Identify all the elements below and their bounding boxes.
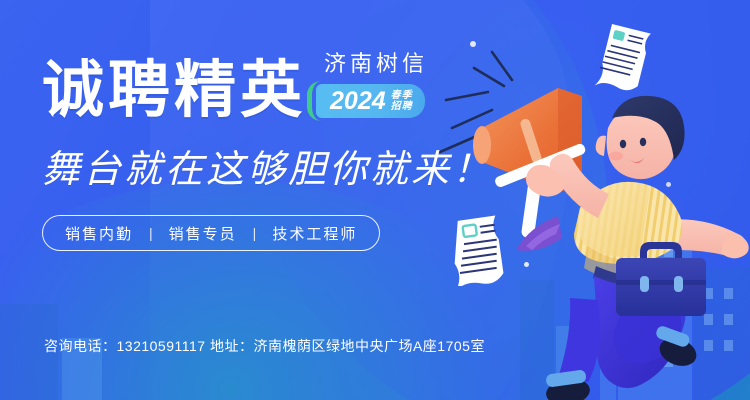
job-tags-pill: 销售内勤 | 销售专员 | 技术工程师 — [42, 215, 380, 251]
waistband — [593, 266, 677, 291]
shoe — [656, 333, 701, 370]
recruitment-banner: 诚聘精英 济南树信 2024 春季 招聘 舞台就在这够胆你就来！ 销售内勤 | … — [0, 0, 750, 400]
season-line-2: 招聘 — [391, 101, 413, 112]
tag-separator: | — [149, 225, 153, 241]
job-tag-0: 销售内勤 — [65, 223, 133, 244]
cheek — [609, 152, 623, 161]
pant-leg-back — [558, 298, 600, 382]
pants — [594, 276, 682, 388]
shoe — [544, 376, 591, 400]
year-label: 2024 — [330, 87, 386, 116]
contact-info: 咨询电话：13210591117 地址：济南槐荫区绿地中央广场A座1705室 — [44, 336, 485, 356]
year-badge: 2024 春季 招聘 — [316, 84, 425, 118]
job-tag-1: 销售专员 — [169, 223, 237, 244]
hair — [612, 96, 685, 160]
eye — [640, 138, 646, 146]
decorative-dot — [578, 230, 583, 235]
eye — [620, 140, 626, 148]
season-label: 春季 招聘 — [391, 90, 413, 112]
briefcase-icon — [616, 242, 706, 316]
resume-document-icon — [595, 24, 651, 96]
brand-column: 济南树信 2024 春季 招聘 — [316, 46, 428, 122]
mouth — [628, 158, 644, 163]
subtitle: 舞台就在这够胆你就来！ — [42, 138, 562, 193]
shirt — [574, 182, 682, 264]
banner-copy: 诚聘精英 济南树信 2024 春季 招聘 舞台就在这够胆你就来！ 销售内勤 | … — [42, 46, 562, 251]
headline-row: 诚聘精英 济南树信 2024 春季 招聘 — [42, 46, 562, 122]
decorative-dot — [666, 182, 671, 187]
tag-separator: | — [253, 225, 257, 241]
season-line-1: 春季 — [391, 90, 413, 101]
head — [596, 96, 685, 179]
job-tag-2: 技术工程师 — [272, 223, 357, 244]
right-arm — [626, 219, 745, 256]
page-title: 诚聘精英 — [42, 60, 306, 122]
decorative-dot — [524, 262, 529, 267]
company-name: 济南树信 — [324, 46, 428, 78]
